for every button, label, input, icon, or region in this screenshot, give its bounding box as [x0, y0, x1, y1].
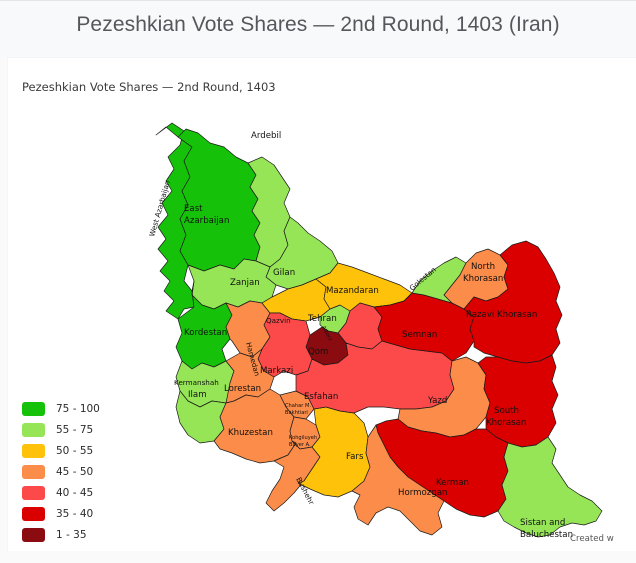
label-ardebil: Ardebil	[251, 131, 281, 141]
legend-swatch	[22, 423, 45, 437]
legend-item[interactable]: 50 - 55	[22, 440, 100, 461]
legend-swatch	[22, 528, 45, 542]
legend-label: 75 - 100	[56, 403, 100, 415]
legend-swatch	[22, 507, 45, 521]
legend-item[interactable]: 55 - 75	[22, 419, 100, 440]
page-title: Pezeshkian Vote Shares — 2nd Round, 1403…	[0, 13, 636, 37]
region-east-azarbaijan[interactable]	[178, 129, 260, 271]
credit-text: Created w	[570, 534, 636, 544]
legend-label: 45 - 50	[56, 466, 93, 478]
legend-item[interactable]: 75 - 100	[22, 398, 100, 419]
legend-label: 1 - 35	[56, 529, 87, 541]
choropleth-map[interactable]: West Azarbaijan East Azarbaijan Ardebil …	[8, 95, 636, 540]
chart-subtitle: Pezeshkian Vote Shares — 2nd Round, 1403	[22, 80, 276, 94]
legend-item[interactable]: 45 - 50	[22, 461, 100, 482]
bottom-band	[0, 551, 636, 563]
legend-swatch	[22, 402, 45, 416]
map-svg: West Azarbaijan East Azarbaijan Ardebil …	[8, 95, 636, 540]
legend-label: 50 - 55	[56, 445, 93, 457]
legend-swatch	[22, 465, 45, 479]
legend-swatch	[22, 486, 45, 500]
legend-label: 40 - 45	[56, 487, 93, 499]
legend: 75 - 100 55 - 75 50 - 55 45 - 50 40 - 45…	[22, 398, 100, 545]
region-markazi[interactable]	[258, 313, 312, 377]
legend-item[interactable]: 1 - 35	[22, 524, 100, 545]
legend-label: 55 - 75	[56, 424, 93, 436]
page-root: Pezeshkian Vote Shares — 2nd Round, 1403…	[0, 0, 636, 563]
legend-item[interactable]: 35 - 40	[22, 503, 100, 524]
legend-swatch	[22, 444, 45, 458]
map-regions	[156, 123, 602, 537]
legend-item[interactable]: 40 - 45	[22, 482, 100, 503]
legend-label: 35 - 40	[56, 508, 93, 520]
region-sistan-baluchestan[interactable]	[498, 437, 602, 537]
